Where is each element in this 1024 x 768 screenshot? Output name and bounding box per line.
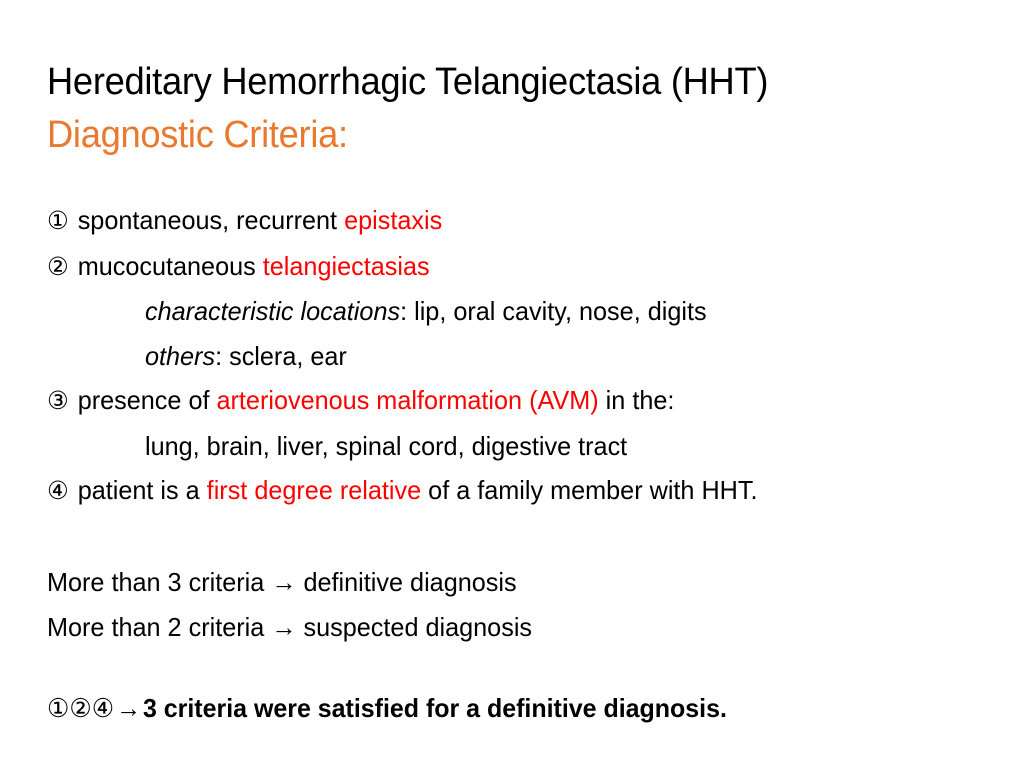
conclusion-line-2: More than 2 criteria → suspected diagnos… xyxy=(47,605,969,650)
criteria-item-3-text: presence of xyxy=(71,385,217,415)
slide-canvas: Hereditary Hemorrhagic Telangiectasia (H… xyxy=(0,0,1024,768)
others-value: : sclera, ear xyxy=(215,341,347,371)
final-statement-block: ①②④→3 criteria were satisfied for a defi… xyxy=(47,690,997,726)
characteristic-locations-row: characteristic locations: lip, oral cavi… xyxy=(47,289,969,334)
conclusion-line-1: More than 3 criteria → definitive diagno… xyxy=(47,560,969,605)
circled-number-4-icon: ④ xyxy=(47,469,69,514)
others-label: others xyxy=(145,341,215,371)
conclusion-list: More than 3 criteria → definitive diagno… xyxy=(47,560,997,650)
page-title: Hereditary Hemorrhagic Telangiectasia (H… xyxy=(47,56,935,109)
criteria-item-4-suffix: of a family member with HHT. xyxy=(421,475,757,505)
final-statement-text: 3 criteria were satisfied for a definiti… xyxy=(143,693,727,723)
criteria-item-3-suffix: in the: xyxy=(599,385,675,415)
criteria-item-1: ① spontaneous, recurrent epistaxis xyxy=(47,198,969,244)
final-statement-row: ①②④→3 criteria were satisfied for a defi… xyxy=(47,690,959,726)
criteria-item-4-highlight: first degree relative xyxy=(207,475,421,505)
criteria-item-1-highlight: epistaxis xyxy=(344,205,442,235)
criteria-item-4: ④ patient is a first degree relative of … xyxy=(47,468,969,514)
criteria-item-2: ② mucocutaneous telangiectasias xyxy=(47,244,969,290)
characteristic-locations-label: characteristic locations xyxy=(145,296,400,326)
final-circled-markers-icon: ①②④ xyxy=(47,693,114,723)
criteria-item-4-text: patient is a xyxy=(71,475,207,505)
final-arrow-icon: → xyxy=(114,693,143,723)
title-block: Hereditary Hemorrhagic Telangiectasia (H… xyxy=(47,56,977,162)
criteria-item-3: ③ presence of arteriovenous malformation… xyxy=(47,378,969,424)
others-locations-row: others: sclera, ear xyxy=(47,334,969,379)
criteria-item-3-highlight: arteriovenous malformation (AVM) xyxy=(216,385,598,415)
criteria-item-2-highlight: telangiectasias xyxy=(263,251,430,281)
circled-number-2-icon: ② xyxy=(47,245,69,290)
criteria-list: ① spontaneous, recurrent epistaxis ② muc… xyxy=(47,198,997,514)
criteria-item-2-text: mucocutaneous xyxy=(71,251,263,281)
criteria-item-1-text: spontaneous, recurrent xyxy=(71,205,344,235)
avm-sites-row: lung, brain, liver, spinal cord, digesti… xyxy=(47,424,969,469)
circled-number-1-icon: ① xyxy=(47,199,69,244)
circled-number-3-icon: ③ xyxy=(47,379,69,424)
page-subtitle: Diagnostic Criteria: xyxy=(47,109,935,162)
characteristic-locations-value: : lip, oral cavity, nose, digits xyxy=(400,296,707,326)
